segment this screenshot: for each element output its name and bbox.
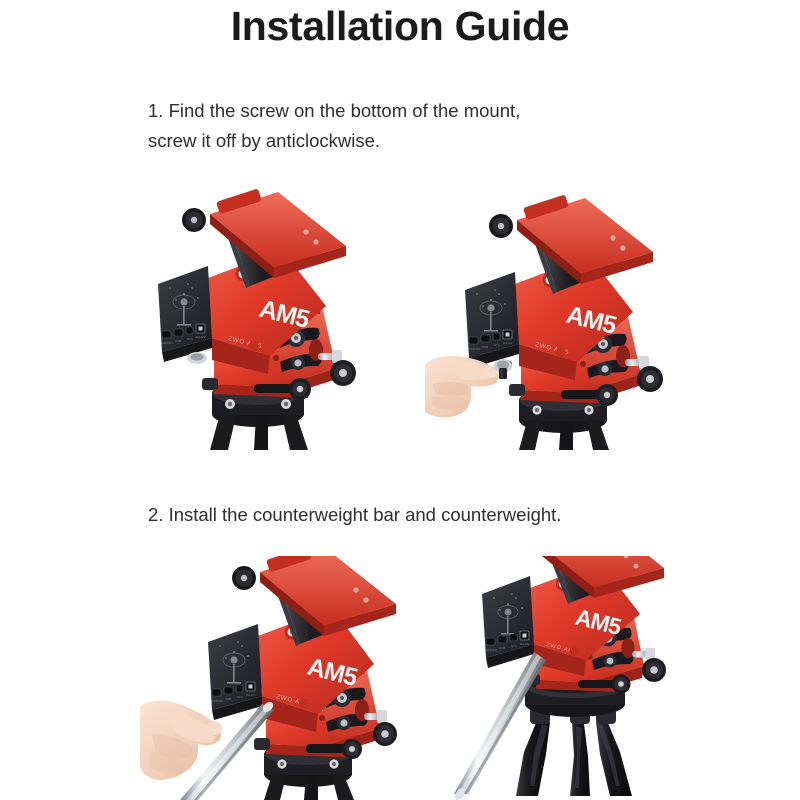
svg-text:ST4: ST4 [187, 337, 193, 341]
figure-step2-hand-installing-bar: AM5 ZWO AM5 [140, 556, 398, 800]
svg-text:ST4: ST4 [511, 644, 517, 648]
svg-text:DC12V: DC12V [503, 341, 513, 345]
page-title: Installation Guide [0, 2, 800, 50]
svg-text:ST4: ST4 [494, 343, 500, 347]
hand-holding-screw [425, 356, 512, 418]
svg-text:ON/OFF: ON/OFF [162, 341, 173, 345]
control-panel: ON/OFFUSB ST4DC12V [465, 272, 519, 368]
svg-text:USB: USB [175, 339, 181, 343]
installation-guide-page: Installation Guide 1. Find the screw on … [0, 0, 800, 800]
dovetail-saddle-plate [232, 556, 396, 636]
saddle-lock-knob [182, 208, 206, 232]
figure-step1-hand-holding-screw: AM5 ZWO AM5 [425, 188, 680, 450]
saddle-lock-knob [489, 214, 513, 238]
dovetail-saddle-plate [489, 194, 653, 284]
svg-text:ON/OFF: ON/OFF [486, 648, 497, 652]
step-1-instruction: 1. Find the screw on the bottom of the m… [148, 96, 520, 156]
svg-text:ON/OFF: ON/OFF [469, 347, 480, 351]
control-panel: ON/OFFUSB ST4DC12V [208, 624, 262, 720]
step-2-instruction: 2. Install the counterweight bar and cou… [148, 500, 561, 530]
figure-step1-mount-with-screw: AM5 ZWO AM5 [150, 188, 380, 450]
control-panel: ON/OFFUSB ST4DC12V [482, 576, 534, 668]
svg-text:ST4: ST4 [237, 695, 243, 699]
saddle-lock-knob [232, 566, 256, 590]
dovetail-saddle-plate [182, 188, 346, 278]
svg-text:USB: USB [482, 345, 488, 349]
svg-text:DC12V: DC12V [520, 642, 530, 646]
bottom-screw [187, 352, 207, 364]
svg-text:ON/OFF: ON/OFF [212, 699, 223, 703]
figure-step2-bar-installed-full-tripod: AM5 ZWO AM5 [420, 556, 688, 800]
svg-text:DC12V: DC12V [246, 693, 256, 697]
svg-text:USB: USB [499, 646, 505, 650]
svg-text:DC12V: DC12V [196, 335, 206, 339]
control-panel: ON/OFFUSB ST4DC12V [158, 266, 212, 362]
svg-text:USB: USB [225, 697, 231, 701]
